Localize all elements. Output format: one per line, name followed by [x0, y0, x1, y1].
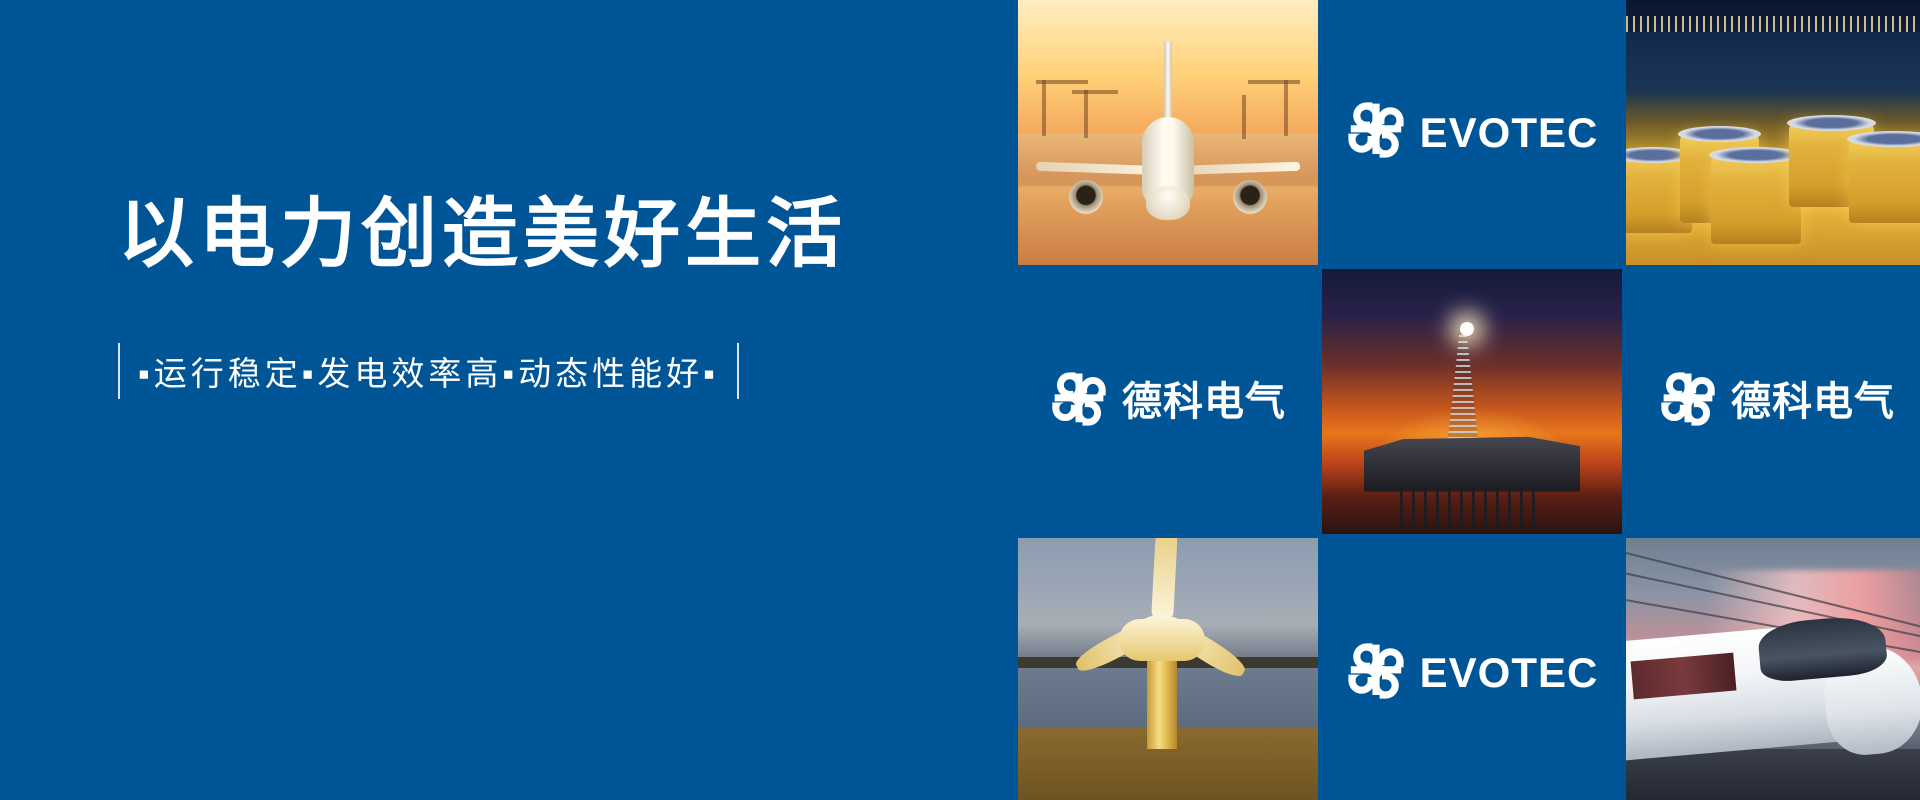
evotec-wordmark: EVOTEC [1420, 652, 1599, 694]
evotec-wordmark: EVOTEC [1420, 112, 1599, 154]
crane-icon [1284, 80, 1288, 136]
tile-photo-turbine [1018, 538, 1318, 800]
storage-tank [1849, 138, 1920, 223]
evotec-pinwheel-icon [1050, 370, 1108, 433]
hero-banner: 以电力创造美好生活 ▪运行稳定▪发电效率高▪动态性能好▪ [0, 0, 1920, 800]
airplane-engine-left [1069, 180, 1103, 214]
deke-wordmark: 德科电气 [1122, 382, 1286, 422]
rig-derrick [1448, 333, 1478, 439]
deke-wordmark: 德科电气 [1731, 382, 1895, 422]
crane-icon [1248, 80, 1300, 84]
page-title: 以电力创造美好生活 [118, 190, 898, 280]
tile-logo-evotec-bottom: EVOTEC [1322, 538, 1622, 800]
tile-photo-oil-tanks [1626, 0, 1920, 265]
storage-tank [1711, 154, 1802, 244]
turbine-column [1147, 646, 1177, 749]
tile-photo-airport [1018, 0, 1318, 265]
tagline-text: ▪运行稳定▪发电效率高▪动态性能好▪ [120, 347, 737, 395]
crane-icon [1036, 80, 1088, 84]
tile-logo-evotec-top: EVOTEC [1322, 0, 1622, 265]
tile-logo-deke-left: 德科电气 [1018, 269, 1318, 534]
train-track [1626, 749, 1920, 800]
evotec-pinwheel-icon [1659, 370, 1717, 433]
tagline-rule-right [737, 343, 739, 399]
rig-beacon-light [1460, 322, 1474, 336]
tile-photo-train [1626, 538, 1920, 800]
airplane-engine-right [1233, 180, 1267, 214]
crane-icon [1242, 95, 1246, 139]
crane-icon [1084, 90, 1088, 138]
airplane-nose [1146, 186, 1190, 220]
media-logo-grid: EVOTEC [1018, 0, 1920, 800]
tile-photo-oil-rig [1322, 269, 1622, 534]
banner-text-block: 以电力创造美好生活 ▪运行稳定▪发电效率高▪动态性能好▪ [118, 190, 898, 400]
crane-icon [1072, 90, 1118, 94]
tagline-row: ▪运行稳定▪发电效率高▪动态性能好▪ [118, 342, 898, 400]
turbine-blade [1151, 538, 1179, 622]
tile-logo-deke-right: 德科电气 [1626, 269, 1920, 534]
rig-legs [1400, 486, 1544, 528]
turbine-nacelle [1119, 619, 1205, 661]
rig-platform [1364, 433, 1580, 491]
crane-icon [1042, 80, 1046, 136]
evotec-pinwheel-icon [1346, 100, 1406, 165]
evotec-pinwheel-icon [1346, 641, 1406, 706]
tanks-sea [1626, 32, 1920, 90]
tanks-city-lights [1626, 16, 1920, 32]
